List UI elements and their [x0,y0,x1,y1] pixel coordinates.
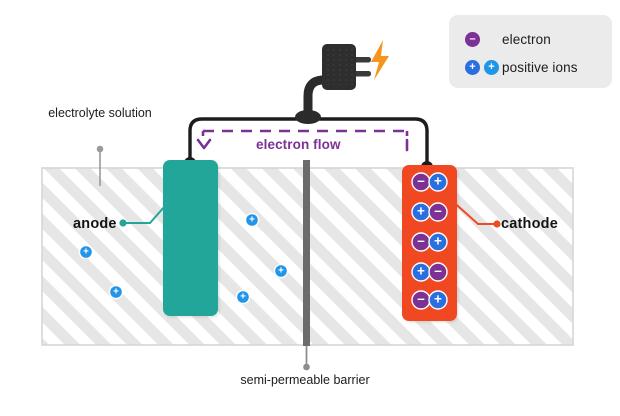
positive-ion-light-icon: + [484,60,499,75]
free-ion-2: + [246,214,259,227]
cathode-ion-4-left: – [412,291,430,309]
positive-ion-dark-sign: + [465,60,480,75]
svg-text:+: + [434,291,442,306]
cathode-ion-1-left: + [412,203,430,221]
cathode-ion-2-left: – [412,233,430,251]
svg-text:+: + [240,291,246,302]
svg-text:+: + [434,173,442,188]
positive-ion-dark-icon: + [465,60,480,75]
svg-text:+: + [113,286,119,297]
svg-text:+: + [83,246,89,257]
positive-ion-light-sign: + [484,60,499,75]
svg-text:–: – [434,263,442,278]
legend-item-electron: – electron [465,28,612,51]
legend-label-electron: electron [502,32,551,47]
label-anode: anode [73,216,117,232]
positive-ions-icon: + + [465,60,502,75]
free-ion-0: + [80,246,93,259]
cathode-ion-0-right: + [429,173,447,191]
svg-text:–: – [417,291,425,306]
cathode-ion-0-left: – [412,173,430,191]
free-ion-4: + [237,291,250,304]
svg-text:–: – [417,173,425,188]
cathode-ion-3-left: + [412,263,430,281]
cathode-ion-1-right: – [429,203,447,221]
anode-electrode [163,160,218,316]
svg-text:+: + [249,214,255,225]
diagram-canvas: +++++ –++––++––+ – electron + + positive [0,0,620,416]
electron-minus-icon: – [465,32,480,47]
lightning-bolt-icon [371,40,389,80]
label-semi-permeable-barrier: semi-permeable barrier [215,373,395,387]
legend-item-positive-ions: + + positive ions [465,56,612,79]
label-electron-flow: electron flow [256,137,341,152]
label-cathode: cathode [501,216,558,232]
svg-text:–: – [434,203,442,218]
cathode-ion-2-right: + [429,233,447,251]
legend-panel: – electron + + positive ions [449,15,612,88]
legend-label-positive-ions: positive ions [502,60,578,75]
electron-sign: – [465,32,480,47]
label-electrolyte-solution: electrolyte solution [48,105,152,121]
svg-text:+: + [417,203,425,218]
power-plug [295,40,389,124]
svg-text:+: + [434,233,442,248]
semi-permeable-barrier [303,160,310,370]
free-ion-1: + [110,286,123,299]
cathode-ion-4-right: + [429,291,447,309]
free-ion-3: + [275,265,288,278]
electron-flow-arrowhead [198,140,210,148]
svg-text:–: – [417,233,425,248]
cathode-ion-3-right: – [429,263,447,281]
svg-text:+: + [278,265,284,276]
plug-body [322,44,356,90]
svg-text:+: + [417,263,425,278]
electron-icon: – [465,32,502,47]
